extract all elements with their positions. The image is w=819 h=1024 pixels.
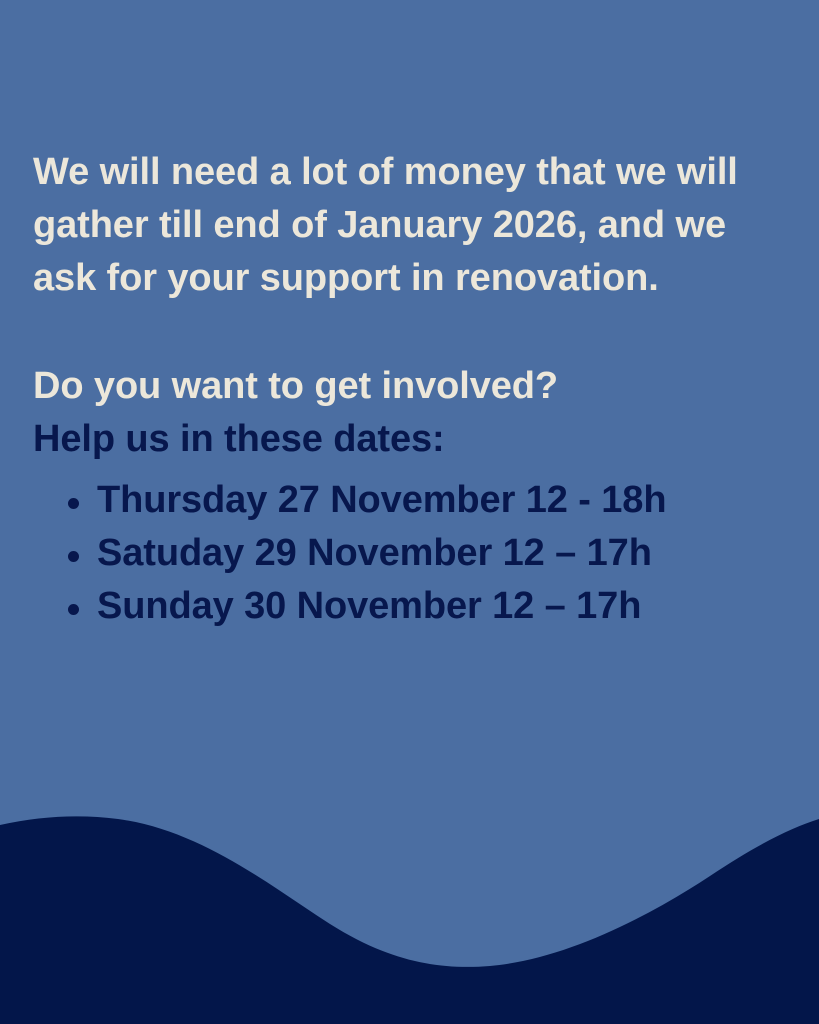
poster-canvas: We will need a lot of money that we will… — [0, 0, 819, 1024]
paragraph-spacer — [33, 305, 793, 360]
list-item: Satuday 29 November 12 – 17h — [33, 527, 793, 580]
list-item: Sunday 30 November 12 – 17h — [33, 580, 793, 633]
text-content-block: We will need a lot of money that we will… — [33, 146, 793, 633]
question-line: Do you want to get involved? — [33, 360, 793, 413]
call-to-action-line: Help us in these dates: — [33, 413, 793, 466]
dates-list: Thursday 27 November 12 - 18h Satuday 29… — [33, 474, 793, 633]
list-item: Thursday 27 November 12 - 18h — [33, 474, 793, 527]
wave-shape — [0, 794, 819, 1024]
intro-paragraph: We will need a lot of money that we will… — [33, 146, 793, 305]
